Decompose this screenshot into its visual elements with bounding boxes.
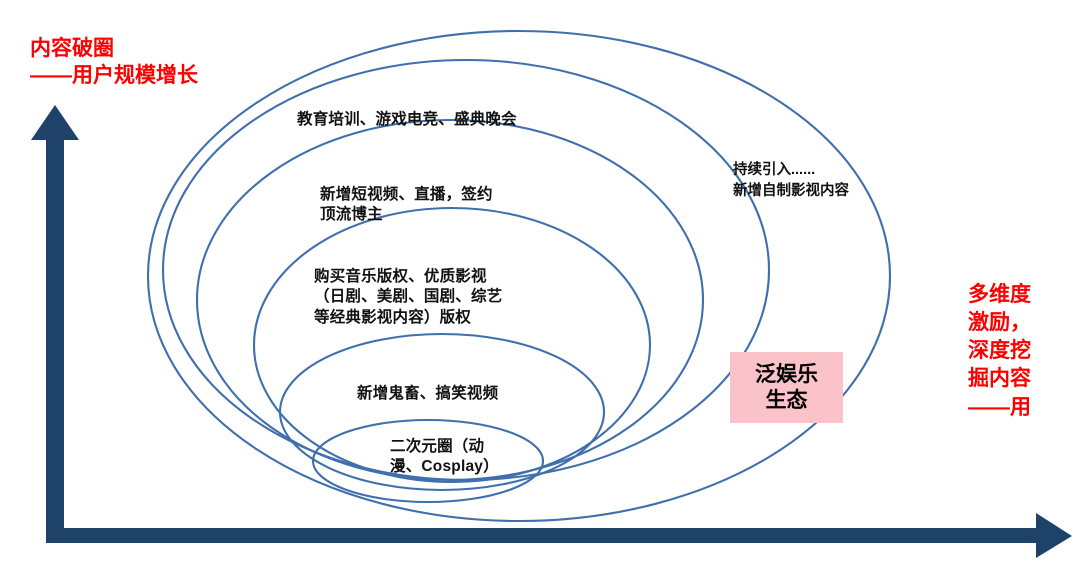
vertical-axis-arrow [31, 105, 79, 540]
side-note-annotation: 持续引入...... 新增自制影视内容 [733, 160, 849, 201]
ring-label-short-video-live: 新增短视频、直播，签约 顶流博主 [320, 185, 493, 226]
ring-label-education-gaming: 教育培训、游戏电竞、盛典晚会 [297, 110, 517, 130]
horizontal-axis-label: 多维度 激励， 深度挖 掘内容 ——用 [968, 281, 1068, 422]
pan-entertainment-ecosystem-badge: 泛娱乐 生态 [730, 352, 843, 423]
vertical-axis-label: 内容破圈 ——用户规模增长 [30, 36, 198, 90]
diagram-canvas: 内容破圈 ——用户规模增长 多维度 激励， 深度挖 掘内容 ——用 教育培训、游… [0, 0, 1080, 561]
ring-label-music-film-copyright: 购买音乐版权、优质影视 （日剧、美剧、国剧、综艺 等经典影视内容）版权 [314, 267, 502, 328]
ring-label-acg-cosplay: 二次元圈（动 漫、Cosplay） [390, 437, 499, 478]
ring-ellipse-0 [148, 31, 890, 521]
ring-label-guichu-funny-video: 新增鬼畜、搞笑视频 [357, 384, 498, 404]
